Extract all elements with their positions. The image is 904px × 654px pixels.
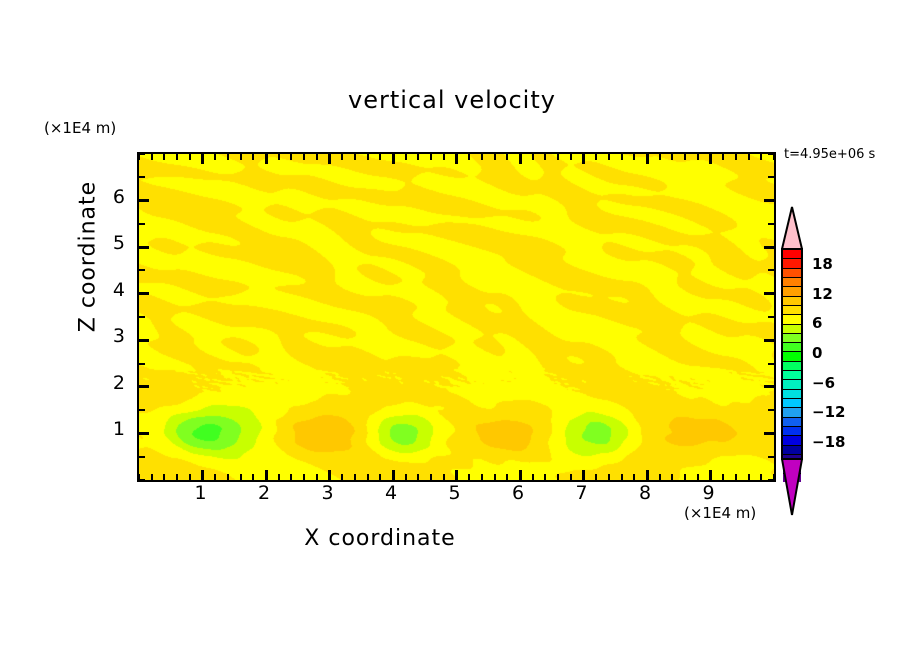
tick-mark	[354, 474, 356, 480]
x-tick-label: 4	[371, 482, 411, 504]
tick-mark	[722, 154, 724, 160]
tick-mark	[354, 154, 356, 160]
colorbar-over-arrow	[781, 206, 803, 250]
tick-mark	[608, 474, 610, 480]
tick-mark	[582, 154, 585, 164]
tick-mark	[764, 432, 774, 435]
tick-mark	[265, 470, 268, 480]
tick-mark	[189, 474, 191, 480]
tick-mark	[430, 154, 432, 160]
colorbar-band	[783, 390, 801, 399]
tick-mark	[684, 474, 686, 480]
tick-mark	[176, 154, 178, 160]
tick-mark	[646, 154, 649, 164]
tick-mark	[768, 176, 774, 178]
tick-mark	[764, 199, 774, 202]
tick-mark	[139, 432, 149, 435]
tick-mark	[265, 154, 268, 164]
tick-mark	[697, 154, 699, 160]
tick-mark	[252, 474, 254, 480]
tick-mark	[367, 154, 369, 160]
tick-mark	[139, 316, 145, 318]
tick-mark	[748, 474, 750, 480]
x-tick-label: 1	[181, 482, 221, 504]
tick-mark	[139, 479, 145, 481]
tick-mark	[316, 474, 318, 480]
tick-mark	[290, 154, 292, 160]
tick-mark	[328, 154, 331, 164]
y-tick-label: 1	[85, 418, 125, 440]
tick-mark	[278, 154, 280, 160]
colorbar-band	[783, 297, 801, 306]
tick-mark	[240, 154, 242, 160]
tick-mark	[367, 474, 369, 480]
tick-mark	[748, 154, 750, 160]
tick-mark	[430, 474, 432, 480]
tick-mark	[768, 269, 774, 271]
tick-mark	[227, 154, 229, 160]
tick-mark	[176, 474, 178, 480]
tick-mark	[764, 385, 774, 388]
colorbar-band	[783, 315, 801, 324]
tick-mark	[139, 409, 145, 411]
tick-mark	[139, 223, 145, 225]
tick-mark	[139, 199, 149, 202]
tick-mark	[379, 474, 381, 480]
tick-mark	[709, 154, 712, 164]
tick-mark	[443, 154, 445, 160]
tick-mark	[278, 474, 280, 480]
velocity-field-canvas	[139, 154, 774, 480]
colorbar-band	[783, 287, 801, 296]
tick-mark	[139, 246, 149, 249]
tick-mark	[139, 339, 149, 342]
colorbar-band	[783, 371, 801, 380]
colorbar-band	[783, 269, 801, 278]
tick-mark	[468, 474, 470, 480]
tick-mark	[621, 154, 623, 160]
tick-mark	[328, 470, 331, 480]
tick-mark	[768, 363, 774, 365]
colorbar-band	[783, 278, 801, 287]
tick-mark	[392, 470, 395, 480]
page-title: vertical velocity	[0, 86, 904, 114]
x-tick-label: 6	[498, 482, 538, 504]
tick-mark	[768, 456, 774, 458]
tick-mark	[494, 154, 496, 160]
tick-mark	[494, 474, 496, 480]
x-axis-units-label: (×1E4 m)	[684, 504, 756, 522]
colorbar-band	[783, 399, 801, 408]
colorbar-band	[783, 427, 801, 436]
tick-mark	[252, 154, 254, 160]
tick-mark	[341, 474, 343, 480]
colorbar-band	[783, 325, 801, 334]
tick-mark	[227, 474, 229, 480]
tick-mark	[341, 154, 343, 160]
tick-mark	[189, 154, 191, 160]
tick-mark	[151, 474, 153, 480]
tick-mark	[139, 456, 145, 458]
tick-mark	[570, 154, 572, 160]
time-annotation: t=4.95e+06 s	[784, 147, 875, 162]
tick-mark	[768, 409, 774, 411]
tick-mark	[608, 154, 610, 160]
tick-mark	[139, 385, 149, 388]
tick-mark	[633, 474, 635, 480]
colorbar-band	[783, 343, 801, 352]
tick-mark	[481, 154, 483, 160]
colorbar-label: −6	[812, 374, 835, 392]
tick-mark	[379, 154, 381, 160]
tick-mark	[303, 474, 305, 480]
tick-mark	[519, 154, 522, 164]
colorbar-band	[783, 352, 801, 361]
colorbar-band	[783, 250, 801, 259]
colorbar-band	[783, 306, 801, 315]
tick-mark	[544, 474, 546, 480]
colorbar	[781, 248, 803, 460]
colorbar-band	[783, 446, 801, 455]
y-axis-units-label: (×1E4 m)	[44, 119, 116, 137]
tick-mark	[764, 246, 774, 249]
tick-mark	[405, 154, 407, 160]
x-axis-title: X coordinate	[0, 526, 760, 551]
tick-mark	[139, 176, 145, 178]
colorbar-label: 12	[812, 285, 833, 303]
tick-mark	[468, 154, 470, 160]
tick-mark	[316, 154, 318, 160]
x-tick-label: 8	[625, 482, 665, 504]
colorbar-label: −18	[812, 433, 845, 451]
colorbar-under-arrow	[781, 458, 803, 516]
tick-mark	[163, 474, 165, 480]
tick-mark	[557, 154, 559, 160]
contour-plot-area	[137, 152, 776, 482]
tick-mark	[671, 154, 673, 160]
x-tick-label: 5	[435, 482, 475, 504]
tick-mark	[532, 154, 534, 160]
tick-mark	[659, 154, 661, 160]
tick-mark	[735, 474, 737, 480]
tick-mark	[201, 470, 204, 480]
tick-mark	[481, 474, 483, 480]
tick-mark	[139, 269, 145, 271]
x-tick-label: 3	[308, 482, 348, 504]
tick-mark	[544, 154, 546, 160]
colorbar-band	[783, 259, 801, 268]
colorbar-label: 18	[812, 255, 833, 273]
tick-mark	[595, 474, 597, 480]
colorbar-label: 0	[812, 344, 822, 362]
tick-mark	[519, 470, 522, 480]
colorbar-band	[783, 362, 801, 371]
tick-mark	[139, 153, 145, 155]
tick-mark	[303, 154, 305, 160]
y-axis-title: Z coordinate	[76, 137, 101, 377]
tick-mark	[139, 292, 149, 295]
tick-mark	[595, 154, 597, 160]
tick-mark	[760, 154, 762, 160]
tick-mark	[214, 474, 216, 480]
x-tick-label: 9	[689, 482, 729, 504]
tick-mark	[768, 316, 774, 318]
tick-mark	[443, 474, 445, 480]
tick-mark	[455, 470, 458, 480]
colorbar-label: −12	[812, 403, 845, 421]
tick-mark	[506, 474, 508, 480]
tick-mark	[455, 154, 458, 164]
tick-mark	[214, 154, 216, 160]
colorbar-band	[783, 408, 801, 417]
tick-mark	[405, 474, 407, 480]
tick-mark	[768, 479, 774, 481]
colorbar-label: 6	[812, 314, 822, 332]
tick-mark	[392, 154, 395, 164]
tick-mark	[621, 474, 623, 480]
tick-mark	[570, 474, 572, 480]
tick-mark	[557, 474, 559, 480]
x-tick-label: 7	[562, 482, 602, 504]
tick-mark	[659, 474, 661, 480]
tick-mark	[684, 154, 686, 160]
tick-mark	[697, 474, 699, 480]
colorbar-band	[783, 380, 801, 389]
x-tick-label: 2	[244, 482, 284, 504]
tick-mark	[735, 154, 737, 160]
tick-mark	[290, 474, 292, 480]
tick-mark	[760, 474, 762, 480]
tick-mark	[722, 474, 724, 480]
tick-mark	[768, 153, 774, 155]
tick-mark	[709, 470, 712, 480]
tick-mark	[506, 154, 508, 160]
tick-mark	[163, 154, 165, 160]
tick-mark	[768, 223, 774, 225]
tick-mark	[151, 154, 153, 160]
tick-mark	[417, 474, 419, 480]
colorbar-band	[783, 418, 801, 427]
tick-mark	[764, 339, 774, 342]
tick-mark	[582, 470, 585, 480]
tick-mark	[139, 363, 145, 365]
tick-mark	[633, 154, 635, 160]
tick-mark	[646, 470, 649, 480]
tick-mark	[201, 154, 204, 164]
tick-mark	[240, 474, 242, 480]
tick-mark	[671, 474, 673, 480]
colorbar-band	[783, 436, 801, 445]
tick-mark	[417, 154, 419, 160]
colorbar-band	[783, 334, 801, 343]
tick-mark	[532, 474, 534, 480]
tick-mark	[764, 292, 774, 295]
